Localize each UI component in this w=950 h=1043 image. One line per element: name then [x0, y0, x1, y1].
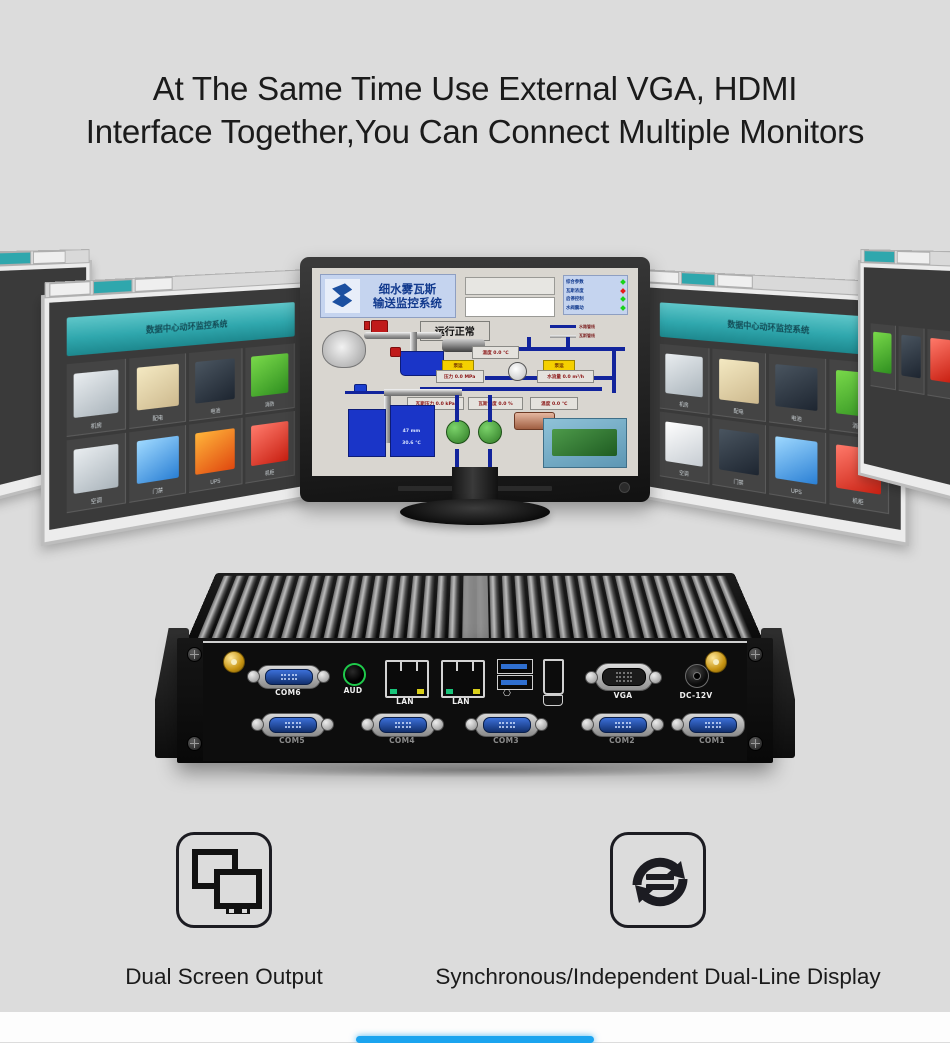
status-led-green — [620, 305, 626, 311]
lan-led-amber — [417, 689, 424, 694]
port-com4[interactable] — [371, 713, 435, 737]
port-vga[interactable] — [595, 663, 653, 691]
page-title: At The Same Time Use External VGA, HDMI … — [0, 68, 950, 154]
port-dc-power[interactable] — [685, 664, 709, 688]
indicator-label: 综合参数 — [566, 279, 584, 285]
dual-screen-icon — [176, 832, 272, 928]
lan-led-green — [390, 689, 397, 694]
tab[interactable] — [0, 251, 31, 265]
chassis-screw — [187, 736, 202, 751]
port-screw-nut — [671, 718, 684, 731]
tab[interactable] — [717, 274, 753, 289]
indicator-row[interactable]: 启停控制 — [566, 295, 625, 304]
grid-cell[interactable]: 机房 — [660, 344, 710, 415]
port-usb3-lower[interactable] — [497, 675, 533, 690]
water-pipe — [488, 395, 492, 422]
equals-glyph — [646, 874, 674, 890]
headline-line-1: At The Same Time Use External VGA, HDMI — [0, 68, 950, 111]
power-button[interactable] — [619, 482, 630, 493]
scada-application: 细水雾瓦斯 输送监控系统 综合参数 瓦斯浓度 启停控制 — [312, 268, 638, 476]
process-tag: 瓦斯浓度 0.0 % — [468, 397, 522, 410]
scada-title-line-2: 输送监控系统 — [360, 296, 455, 310]
grid-cell[interactable]: 空调 — [660, 412, 710, 485]
heatsink-center-block — [463, 576, 489, 645]
thumb-caption: 机房 — [660, 399, 709, 412]
port-screw-nut — [251, 718, 264, 731]
antenna-connector-left[interactable] — [223, 651, 245, 673]
grid-cell[interactable] — [871, 323, 896, 391]
legend-label: 水路管线 — [579, 324, 595, 330]
thumb-caption: UPS — [769, 485, 824, 501]
tank-reading: 47 mm — [397, 426, 426, 436]
thumb-caption: 消防 — [245, 398, 294, 411]
indicator-label: 水阀震动 — [566, 305, 584, 311]
port-label-aud: AUD — [331, 686, 375, 695]
water-pipe — [455, 395, 459, 422]
grid-cell[interactable]: 空调 — [67, 433, 127, 513]
scada-indicator-panel: 综合参数 瓦斯浓度 启停控制 水阀震动 — [563, 275, 628, 315]
tab[interactable] — [681, 272, 715, 286]
app-header-title: 数据中心动环监控系统 — [727, 319, 809, 337]
port-com2[interactable] — [591, 713, 655, 737]
grid-cell[interactable]: 门禁 — [130, 425, 186, 503]
water-pipe — [527, 337, 531, 349]
port-label-com2: COM2 — [591, 736, 653, 745]
usb-icon: ⎔ — [503, 689, 511, 699]
port-screw-nut — [651, 718, 664, 731]
thumb-caption: 电池 — [189, 405, 241, 419]
scada-title-line-1: 细水雾瓦斯 — [360, 282, 455, 296]
port-label-com1: COM1 — [681, 736, 743, 745]
port-screw-nut — [317, 670, 330, 683]
tab[interactable] — [93, 279, 133, 294]
status-led-green — [620, 279, 626, 285]
valve-icon — [390, 347, 401, 357]
tab[interactable] — [49, 281, 90, 297]
port-screw-nut — [321, 718, 334, 731]
thumb-caption: 门禁 — [130, 483, 185, 500]
pump-2-icon — [478, 420, 502, 444]
port-hdmi[interactable] — [543, 659, 564, 695]
status-led-red — [620, 288, 626, 294]
grid-cell[interactable]: 机房 — [67, 359, 127, 437]
monitor-wall: 数据中心动环监控系统 机房 配电 电池 消防 空调 门禁 UPS 机 — [0, 222, 950, 552]
port-com1[interactable] — [681, 713, 745, 737]
thumbnail-grid — [871, 323, 950, 481]
company-logo-icon — [325, 279, 360, 312]
monitor-front-shape — [214, 869, 262, 909]
process-tag: 温度 0.0 ℃ — [472, 346, 520, 359]
feature-label-sync-display: Synchronous/Independent Dual-Line Displa… — [415, 964, 901, 990]
legend-item: 水路管线 — [550, 322, 628, 331]
water-pipe — [612, 347, 616, 393]
grid-cell[interactable]: 电池 — [769, 354, 826, 430]
monitor-stand-base — [400, 499, 550, 525]
headline-line-2: Interface Together,You Can Connect Multi… — [0, 111, 950, 154]
grid-cell[interactable]: 消防 — [245, 344, 295, 415]
grid-cell[interactable]: UPS — [189, 418, 242, 493]
port-com5[interactable] — [261, 713, 325, 737]
port-label-com6: COM6 — [257, 688, 319, 697]
side-monitor-far-right — [858, 260, 950, 512]
feature-dual-screen: Dual Screen Output — [176, 832, 272, 928]
thumb-caption: 机房 — [67, 419, 126, 434]
thumb-caption: 门禁 — [713, 475, 765, 491]
tab[interactable] — [897, 251, 930, 265]
window-tabbar — [860, 249, 950, 268]
blower-icon — [322, 330, 366, 367]
process-tag: 压力 0.0 MPa — [436, 370, 484, 383]
process-tag: 温度 0.0 ℃ — [530, 397, 578, 410]
pipe-legend: 水路管线 瓦斯管线 — [550, 322, 628, 341]
feature-row: Dual Screen Output Synchronous/Independe… — [0, 832, 950, 1002]
port-label-lan-2: LAN — [437, 697, 485, 706]
gas-pipe — [384, 389, 462, 396]
heatsink-top — [185, 573, 765, 645]
port-lan-2[interactable] — [441, 660, 485, 698]
grid-cell[interactable]: 门禁 — [713, 419, 766, 494]
screen-content: 数据中心动环监控系统 机房 配电 电池 消防 空调 门禁 UPS 机 — [49, 287, 303, 530]
port-screw-nut — [465, 718, 478, 731]
thumb-caption: 配电 — [713, 405, 765, 419]
port-lan-1[interactable] — [385, 660, 429, 698]
chassis-screw — [187, 647, 202, 662]
indicator-label: 瓦斯浓度 — [566, 288, 584, 294]
feature-sync-display: Synchronous/Independent Dual-Line Displa… — [610, 832, 706, 928]
mini-pc-device: COM6 AUD LAN LAN ⎔ VGA — [155, 550, 795, 800]
sync-refresh-icon — [610, 832, 706, 928]
indicator-row[interactable]: 水阀震动 — [566, 304, 625, 313]
pump-1-icon — [446, 420, 470, 444]
port-label-com5: COM5 — [261, 736, 323, 745]
port-micro-usb[interactable] — [543, 695, 563, 706]
scada-readout-field-2 — [465, 297, 555, 317]
scada-title: 细水雾瓦斯 输送监控系统 — [360, 282, 455, 310]
legend-swatch-water — [550, 325, 576, 328]
thumb-caption: 空调 — [660, 466, 709, 481]
grid-cell[interactable]: 配电 — [130, 354, 186, 430]
screen-content — [864, 267, 950, 495]
port-screw-nut — [431, 718, 444, 731]
thumb-caption: 配电 — [130, 412, 185, 426]
io-panel: COM6 AUD LAN LAN ⎔ VGA — [203, 641, 747, 761]
tab[interactable] — [135, 277, 173, 292]
port-label-vga: VGA — [595, 691, 651, 700]
thumbnail-grid: 机房 配电 电池 消防 空调 门禁 UPS 机柜 — [67, 344, 295, 514]
grid-cell[interactable] — [927, 329, 950, 401]
thumb-caption: UPS — [189, 475, 241, 490]
valve-icon — [364, 321, 370, 330]
window-tabbar — [0, 249, 90, 268]
side-monitor-left: 数据中心动环监控系统 机房 配电 电池 消防 空调 门禁 UPS 机 — [41, 280, 310, 546]
lan-led-amber — [473, 689, 480, 694]
port-label-com3: COM3 — [475, 736, 537, 745]
legend-swatch-gas — [550, 335, 576, 338]
port-screw-nut — [649, 671, 662, 684]
grid-cell[interactable]: 配电 — [713, 349, 766, 422]
lan-led-green — [446, 689, 453, 694]
tank-reading: 30.6 ℃ — [397, 439, 426, 449]
indicator-label: 启停控制 — [566, 296, 584, 302]
grid-cell[interactable]: 机柜 — [245, 411, 295, 484]
tab[interactable] — [646, 270, 679, 284]
feature-label-dual-screen: Dual Screen Output — [109, 964, 339, 990]
legend-item: 瓦斯管线 — [550, 331, 628, 340]
tab[interactable] — [33, 251, 66, 265]
thumbnail-grid: 机房 配电 电池 消防 空调 门禁 UPS 机柜 — [660, 344, 889, 514]
port-com3[interactable] — [475, 713, 539, 737]
port-label-lan-1: LAN — [381, 697, 429, 706]
process-tag: 水流量 0.0 m³/h — [537, 370, 594, 383]
grid-cell[interactable]: 电池 — [189, 349, 242, 422]
pressure-gauge-icon — [508, 362, 527, 381]
thumb-caption: 机柜 — [829, 493, 888, 510]
port-label-com4: COM4 — [371, 736, 433, 745]
indicator-row[interactable]: 瓦斯浓度 — [566, 286, 625, 295]
scada-readout-field-1 — [465, 277, 555, 295]
antenna-connector-right[interactable] — [705, 651, 727, 673]
monitor-screen: 细水雾瓦斯 输送监控系统 综合参数 瓦斯浓度 启停控制 — [312, 268, 638, 476]
app-header-title: 数据中心动环监控系统 — [146, 318, 228, 336]
monitor-stand-shape — [226, 907, 250, 914]
scada-header: 细水雾瓦斯 输送监控系统 — [320, 274, 456, 318]
pc-chassis: COM6 AUD LAN LAN ⎔ VGA — [177, 638, 773, 763]
chassis-screw — [748, 736, 763, 751]
thumb-caption: 电池 — [769, 412, 824, 427]
status-led-green — [620, 297, 626, 303]
thumb-caption: 空调 — [67, 493, 126, 510]
port-usb3-upper[interactable] — [497, 659, 533, 674]
port-audio-jack[interactable] — [343, 663, 366, 686]
port-screw-nut — [535, 718, 548, 731]
legend-label: 瓦斯管线 — [579, 333, 595, 339]
water-pipe — [345, 391, 384, 394]
water-tank-1 — [348, 409, 386, 457]
device-shadow — [215, 762, 735, 778]
gas-pipe — [364, 332, 416, 339]
thumb-caption: 机柜 — [245, 466, 294, 481]
port-screw-nut — [247, 670, 260, 683]
center-monitor: 细水雾瓦斯 输送监控系统 综合参数 瓦斯浓度 启停控制 — [300, 257, 650, 502]
port-screw-nut — [361, 718, 374, 731]
port-screw-nut — [581, 718, 594, 731]
grid-cell[interactable] — [898, 326, 924, 396]
grid-cell[interactable]: UPS — [769, 426, 826, 504]
water-pipe — [566, 337, 570, 349]
tab[interactable] — [864, 250, 895, 263]
port-label-dc: DC-12V — [667, 691, 725, 700]
chassis-screw — [748, 647, 763, 662]
port-com6[interactable] — [257, 665, 321, 689]
indicator-row[interactable]: 综合参数 — [566, 277, 625, 286]
port-screw-nut — [585, 671, 598, 684]
generator-icon — [543, 418, 627, 468]
